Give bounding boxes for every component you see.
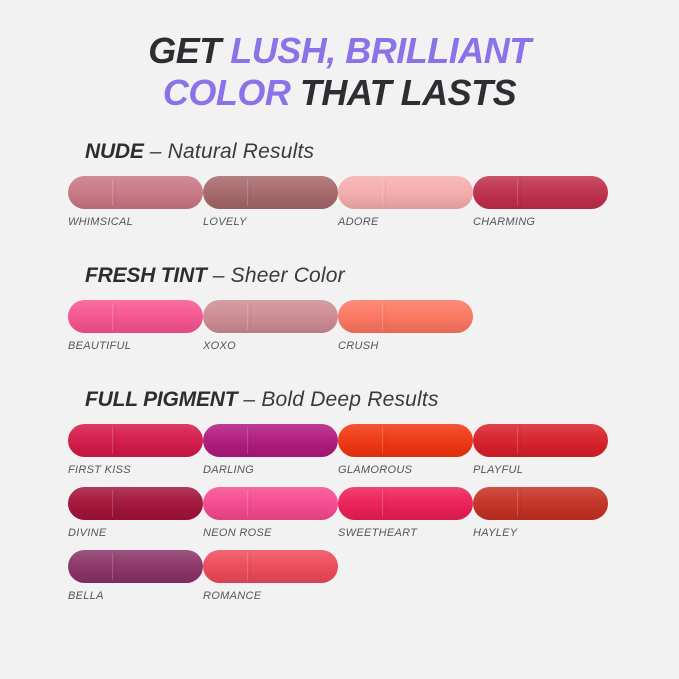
swatch-label: HAYLEY	[473, 527, 608, 539]
headline-line-2: COLOR THAT LASTS	[0, 72, 679, 114]
swatch-item[interactable]: ROMANCE	[203, 550, 338, 602]
swatch-label: XOXO	[203, 340, 338, 352]
section-full-pigment: FULL PIGMENT – Bold Deep ResultsFIRST KI…	[0, 389, 679, 613]
section-subtitle: – Bold Deep Results	[237, 388, 438, 411]
section-heading: NUDE – Natural Results	[85, 141, 639, 162]
swatch-item[interactable]: XOXO	[203, 300, 338, 352]
swatch-item[interactable]: CHARMING	[473, 176, 608, 228]
swatch-grid: WHIMSICALLOVELYADORECHARMING	[68, 176, 608, 239]
section-subtitle: – Sheer Color	[207, 264, 345, 287]
swatch-seam-shadow	[385, 179, 386, 206]
swatch-seam-line	[112, 179, 113, 206]
swatch-item[interactable]: LOVELY	[203, 176, 338, 228]
swatch-seam-line	[247, 179, 248, 206]
color-swatch[interactable]	[338, 300, 473, 333]
swatch-seam-shadow	[520, 179, 521, 206]
swatch-sheen-overlay	[338, 487, 473, 520]
swatch-sheen-overlay	[203, 176, 338, 209]
section-fresh-tint: FRESH TINT – Sheer ColorBEAUTIFULXOXOCRU…	[0, 265, 679, 363]
swatch-grid: BEAUTIFULXOXOCRUSH	[68, 300, 608, 363]
color-swatch[interactable]	[203, 300, 338, 333]
color-swatch[interactable]	[203, 176, 338, 209]
product-color-chart: GET LUSH, BRILLIANT COLOR THAT LASTS NUD…	[0, 0, 679, 679]
swatch-sheen-overlay	[473, 424, 608, 457]
swatch-label: BELLA	[68, 590, 203, 602]
swatch-seam-line	[517, 179, 518, 206]
color-swatch[interactable]	[203, 550, 338, 583]
swatch-seam-shadow	[520, 490, 521, 517]
headline-accent-lush-brilliant: LUSH, BRILLIANT	[230, 30, 530, 71]
swatch-label: ADORE	[338, 216, 473, 228]
color-swatch[interactable]	[203, 424, 338, 457]
swatch-seam-shadow	[250, 179, 251, 206]
color-swatch[interactable]	[473, 424, 608, 457]
swatch-sheen-overlay	[203, 550, 338, 583]
swatch-sheen-overlay	[473, 176, 608, 209]
swatch-seam-line	[247, 427, 248, 454]
swatch-item[interactable]: WHIMSICAL	[68, 176, 203, 228]
swatch-sheen-overlay	[203, 424, 338, 457]
swatch-seam-shadow	[250, 427, 251, 454]
swatch-item[interactable]: CRUSH	[338, 300, 473, 352]
swatch-label: DIVINE	[68, 527, 203, 539]
swatch-seam-shadow	[250, 490, 251, 517]
swatch-label: FIRST KISS	[68, 464, 203, 476]
swatch-label: BEAUTIFUL	[68, 340, 203, 352]
swatch-item[interactable]: SWEETHEART	[338, 487, 473, 539]
headline-text-get: GET	[148, 30, 230, 71]
page-title: GET LUSH, BRILLIANT COLOR THAT LASTS	[0, 0, 679, 115]
color-swatch[interactable]	[203, 487, 338, 520]
section-heading: FULL PIGMENT – Bold Deep Results	[85, 389, 639, 410]
section-heading: FRESH TINT – Sheer Color	[85, 265, 639, 286]
swatch-item[interactable]: GLAMOROUS	[338, 424, 473, 476]
color-swatch[interactable]	[68, 487, 203, 520]
swatch-seam-shadow	[520, 427, 521, 454]
swatch-item[interactable]: BELLA	[68, 550, 203, 602]
swatch-item[interactable]: NEON ROSE	[203, 487, 338, 539]
swatch-label: ROMANCE	[203, 590, 338, 602]
swatch-label: CRUSH	[338, 340, 473, 352]
swatch-sheen-overlay	[203, 300, 338, 333]
sections-container: NUDE – Natural ResultsWHIMSICALLOVELYADO…	[0, 141, 679, 613]
swatch-label: NEON ROSE	[203, 527, 338, 539]
color-swatch[interactable]	[338, 424, 473, 457]
swatch-item[interactable]: ADORE	[338, 176, 473, 228]
swatch-seam-shadow	[115, 553, 116, 580]
swatch-item[interactable]: BEAUTIFUL	[68, 300, 203, 352]
swatch-seam-line	[382, 490, 383, 517]
color-swatch[interactable]	[338, 176, 473, 209]
swatch-seam-line	[382, 427, 383, 454]
swatch-sheen-overlay	[338, 176, 473, 209]
color-swatch[interactable]	[68, 300, 203, 333]
color-swatch[interactable]	[68, 176, 203, 209]
swatch-seam-shadow	[385, 427, 386, 454]
color-swatch[interactable]	[473, 487, 608, 520]
swatch-sheen-overlay	[338, 300, 473, 333]
swatch-seam-line	[112, 553, 113, 580]
swatch-item[interactable]: DARLING	[203, 424, 338, 476]
swatch-item[interactable]: PLAYFUL	[473, 424, 608, 476]
swatch-sheen-overlay	[338, 424, 473, 457]
swatch-seam-line	[247, 303, 248, 330]
swatch-seam-shadow	[250, 303, 251, 330]
color-swatch[interactable]	[68, 424, 203, 457]
swatch-label: GLAMOROUS	[338, 464, 473, 476]
headline-text-that-lasts: THAT LASTS	[290, 72, 516, 113]
swatch-sheen-overlay	[68, 300, 203, 333]
swatch-seam-line	[112, 427, 113, 454]
swatch-seam-line	[517, 490, 518, 517]
swatch-seam-line	[247, 490, 248, 517]
section-title: FRESH TINT	[85, 264, 207, 287]
swatch-item[interactable]: DIVINE	[68, 487, 203, 539]
swatch-label: DARLING	[203, 464, 338, 476]
swatch-seam-line	[382, 303, 383, 330]
swatch-seam-line	[112, 303, 113, 330]
swatch-seam-shadow	[115, 179, 116, 206]
swatch-sheen-overlay	[68, 487, 203, 520]
headline-line-1: GET LUSH, BRILLIANT	[0, 30, 679, 72]
section-title: FULL PIGMENT	[85, 388, 237, 411]
swatch-label: SWEETHEART	[338, 527, 473, 539]
swatch-seam-shadow	[385, 490, 386, 517]
color-swatch[interactable]	[473, 176, 608, 209]
swatch-sheen-overlay	[473, 487, 608, 520]
headline-accent-color: COLOR	[163, 72, 291, 113]
swatch-sheen-overlay	[68, 176, 203, 209]
swatch-sheen-overlay	[68, 424, 203, 457]
section-subtitle: – Natural Results	[144, 140, 315, 163]
swatch-label: LOVELY	[203, 216, 338, 228]
color-swatch[interactable]	[68, 550, 203, 583]
color-swatch[interactable]	[338, 487, 473, 520]
swatch-seam-line	[247, 553, 248, 580]
section-nude: NUDE – Natural ResultsWHIMSICALLOVELYADO…	[0, 141, 679, 239]
swatch-seam-shadow	[115, 490, 116, 517]
swatch-seam-shadow	[385, 303, 386, 330]
swatch-grid: FIRST KISSDARLINGGLAMOROUSPLAYFULDIVINEN…	[68, 424, 608, 613]
swatch-label: PLAYFUL	[473, 464, 608, 476]
swatch-seam-line	[112, 490, 113, 517]
swatch-seam-line	[517, 427, 518, 454]
swatch-sheen-overlay	[203, 487, 338, 520]
swatch-seam-shadow	[250, 553, 251, 580]
swatch-item[interactable]: HAYLEY	[473, 487, 608, 539]
swatch-seam-shadow	[115, 427, 116, 454]
swatch-seam-shadow	[115, 303, 116, 330]
swatch-seam-line	[382, 179, 383, 206]
swatch-label: WHIMSICAL	[68, 216, 203, 228]
swatch-label: CHARMING	[473, 216, 608, 228]
swatch-sheen-overlay	[68, 550, 203, 583]
section-title: NUDE	[85, 140, 144, 163]
swatch-item[interactable]: FIRST KISS	[68, 424, 203, 476]
